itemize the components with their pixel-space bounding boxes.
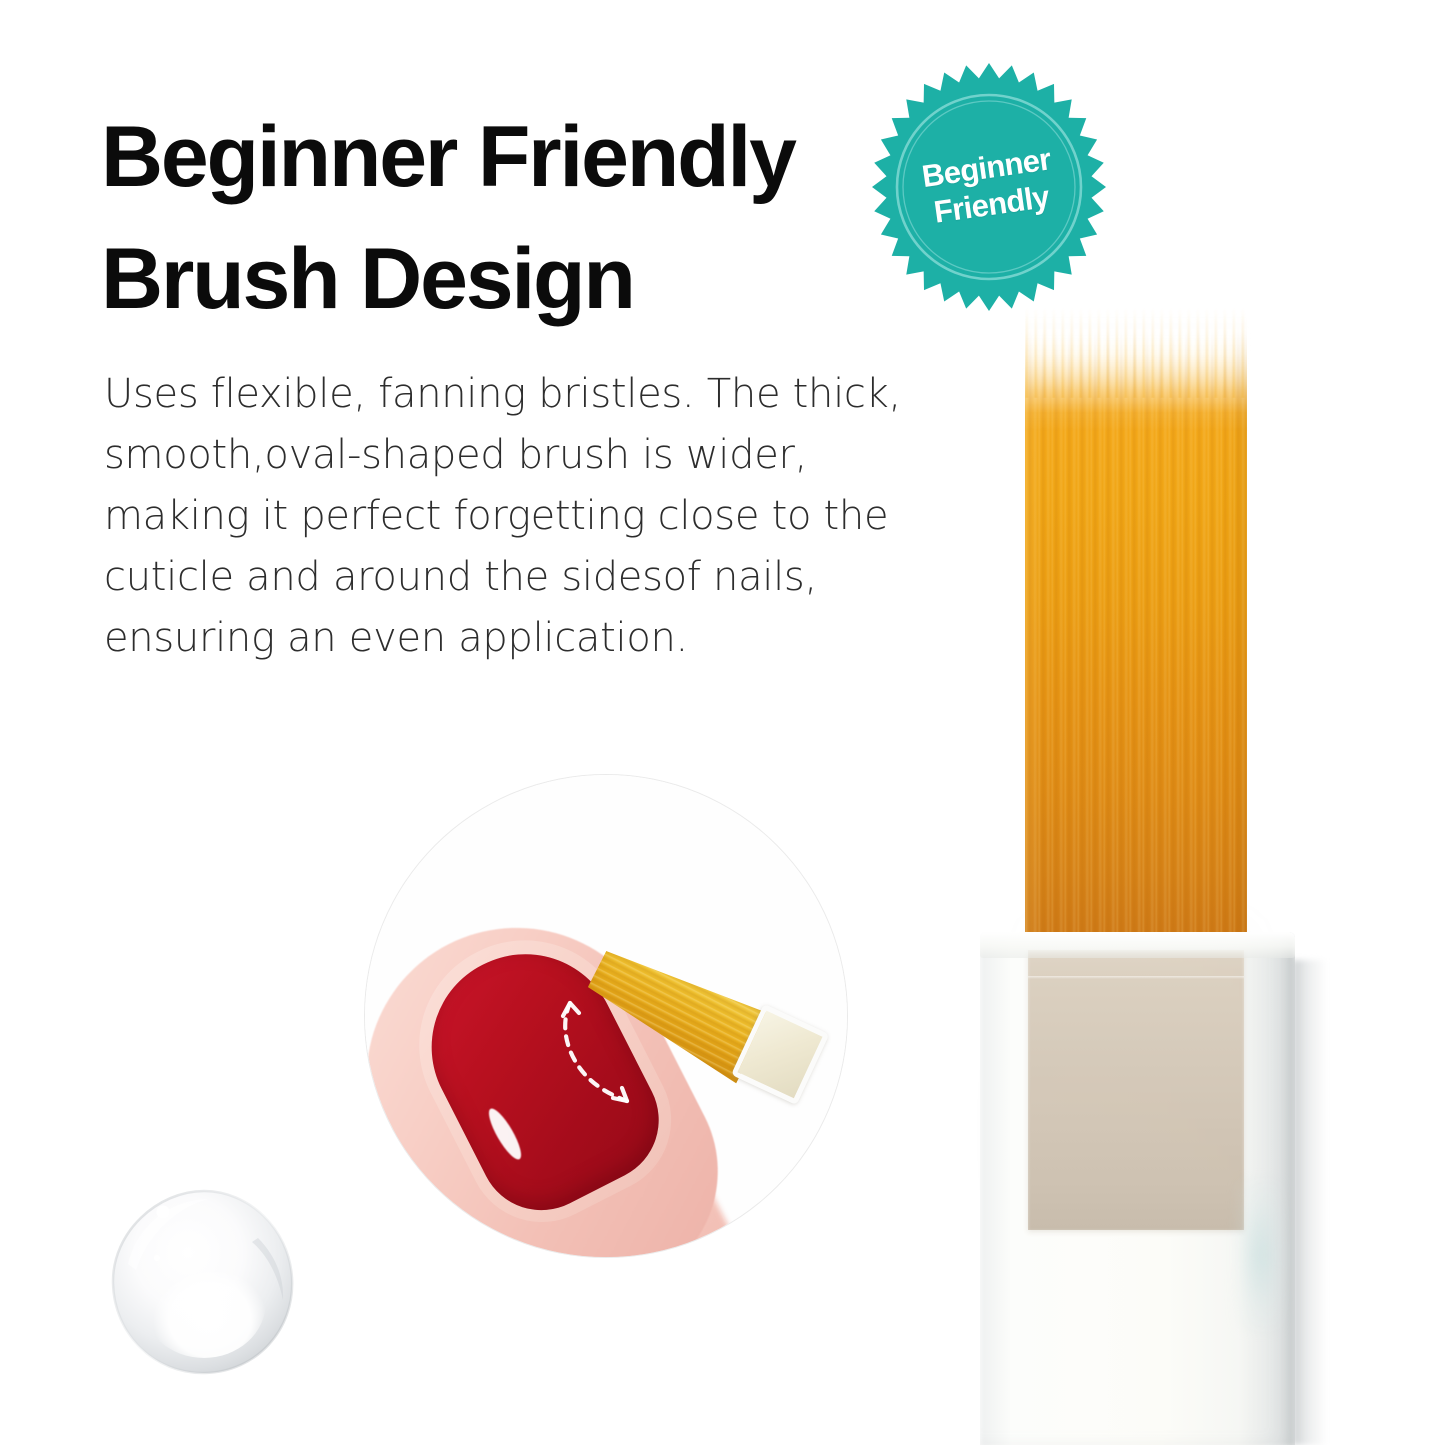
starburst-seal-icon — [872, 63, 1106, 311]
description-line-3: making it perfect forgetting close to th… — [104, 486, 914, 547]
description-text: Uses flexible, fanning bristles. The thi… — [104, 364, 914, 669]
sweep-direction-arrow-icon — [365, 775, 847, 1257]
description-line-1: Uses flexible, fanning bristles. The thi… — [104, 364, 914, 425]
water-droplet-icon — [108, 1186, 298, 1378]
product-brush-image — [944, 300, 1344, 1445]
description-line-4: cuticle and around the sidesof nails, — [104, 547, 914, 608]
product-feature-card: Beginner Friendly Brush Design Uses flex… — [0, 0, 1445, 1445]
page-title: Beginner Friendly Brush Design — [101, 96, 891, 340]
water-droplet — [108, 1186, 298, 1378]
handle-edge-shadow — [1293, 960, 1327, 1445]
brush-handle-lip — [980, 932, 1295, 958]
description-line-5: ensuring an even application. — [104, 608, 914, 669]
handle-teal-reflection — [1236, 1180, 1284, 1330]
nail-application-inset — [365, 775, 847, 1257]
page-title-line-2: Brush Design — [101, 218, 891, 340]
bristle-tip-hairs — [1025, 308, 1247, 398]
brush-bristles — [1025, 316, 1247, 961]
description-line-2: smooth,oval-shaped brush is wider, — [104, 425, 914, 486]
brush-ferrule-block — [1028, 950, 1244, 1230]
page-title-line-1: Beginner Friendly — [101, 96, 891, 218]
beginner-friendly-badge: Beginner Friendly — [872, 63, 1106, 311]
